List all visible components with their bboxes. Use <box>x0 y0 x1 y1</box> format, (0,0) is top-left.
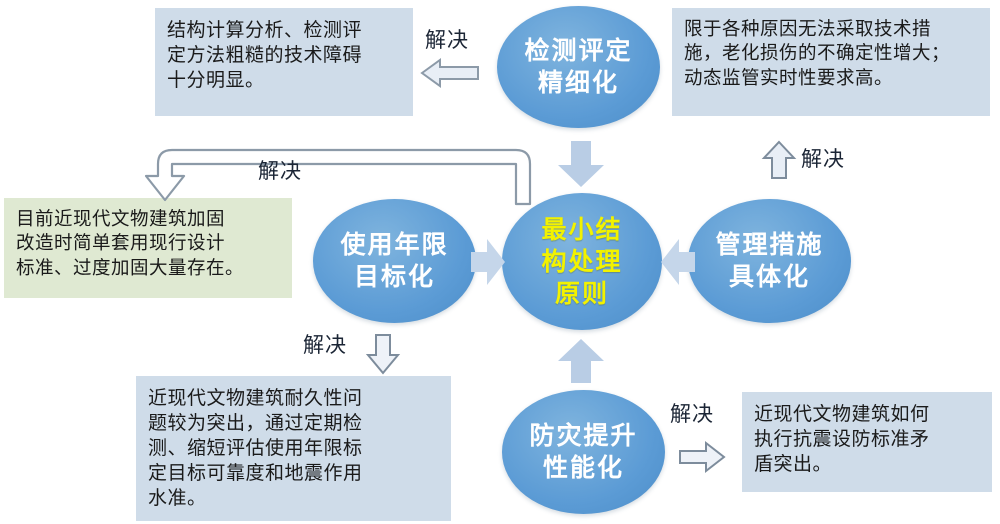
arrow-right-hollow-bottom <box>678 440 726 474</box>
diagram-canvas: 结构计算分析、检测评 定方法粗糙的技术障碍 十分明显。 限于各种原因无法采取技术… <box>0 0 1000 524</box>
edge-label-top-right: 解决 <box>801 143 845 173</box>
arrow-up-hollow-right <box>762 140 796 180</box>
edge-label-bottom-left: 解决 <box>303 329 347 359</box>
node-detection[interactable]: 检测评定 精细化 <box>497 6 660 128</box>
note-bottom-right: 近现代文物建筑如何 执行抗震设防标准矛 盾突出。 <box>742 392 992 492</box>
arrow-down-detection-to-center <box>556 141 606 189</box>
arrow-right-lifespan-to-center <box>471 237 507 287</box>
edge-label-curve: 解决 <box>258 155 302 185</box>
arrow-left-management-to-center <box>659 237 695 287</box>
arrow-up-disaster-to-center <box>556 337 606 385</box>
edge-label-bottom-right: 解决 <box>670 398 714 428</box>
note-top-left: 结构计算分析、检测评 定方法粗糙的技术障碍 十分明显。 <box>155 8 413 116</box>
note-bottom-left: 近现代文物建筑耐久性问 题较为突出，通过定期检 测、缩短评估使用年限标 定目标可… <box>136 376 451 521</box>
note-left: 目前近现代文物建筑加固 改造时简单套用现行设计 标准、过度加固大量存在。 <box>4 198 292 298</box>
node-management[interactable]: 管理措施 具体化 <box>688 199 851 323</box>
node-lifespan[interactable]: 使用年限 目标化 <box>313 199 476 323</box>
node-disaster[interactable]: 防灾提升 性能化 <box>502 390 665 514</box>
arrow-left-hollow-top <box>420 56 480 90</box>
connector-center-to-note-left <box>134 138 544 206</box>
node-center[interactable]: 最小结 构处理 原则 <box>502 193 662 330</box>
edge-label-top-left: 解决 <box>425 24 469 54</box>
note-top-right: 限于各种原因无法采取技术措 施，老化损伤的不确定性增大； 动态监管实时性要求高。 <box>672 8 990 116</box>
arrow-down-hollow-left <box>366 333 400 375</box>
